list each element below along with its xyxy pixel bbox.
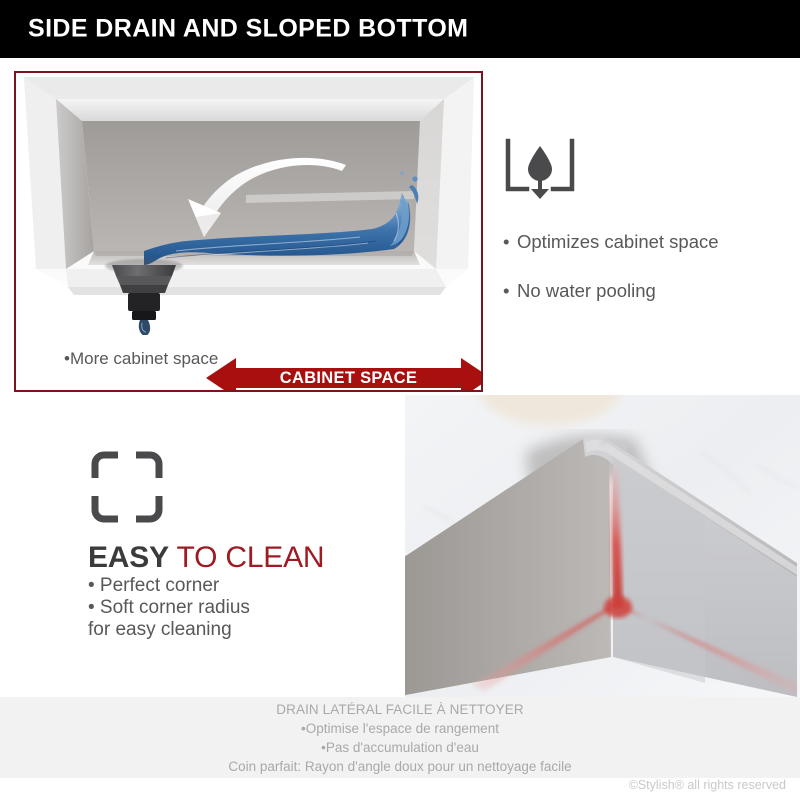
heading-to-clean: TO CLEAN — [169, 541, 324, 574]
feature-list: •Optimizes cabinet space •No water pooli… — [503, 231, 793, 302]
list-item: •Optimizes cabinet space — [503, 231, 793, 253]
bullet-icon: • — [503, 280, 517, 302]
cabinet-space-label: CABINET SPACE — [206, 356, 483, 392]
rounded-corner-frame-icon — [90, 450, 388, 529]
footer-line: DRAIN LATÉRAL FACILE À NETTOYER — [0, 700, 800, 719]
feature-column: •Optimizes cabinet space •No water pooli… — [503, 138, 793, 329]
feature-label: No water pooling — [517, 280, 656, 301]
footer-line: •Pas d'accumulation d'eau — [0, 738, 800, 757]
cabinet-space-banner: CABINET SPACE — [206, 356, 483, 392]
sink-cutaway-illustration — [16, 73, 481, 333]
clean-line: • Perfect corner — [88, 575, 388, 597]
clean-line: for easy cleaning — [88, 619, 388, 641]
easy-to-clean-heading: EASY TO CLEAN — [88, 541, 388, 575]
footer-line: •Optimise l'espace de rangement — [0, 719, 800, 738]
footer-text-block: DRAIN LATÉRAL FACILE À NETTOYER •Optimis… — [0, 700, 800, 777]
header-bar: SIDE DRAIN AND SLOPED BOTTOM — [0, 0, 800, 58]
heading-easy: EASY — [88, 541, 169, 574]
clean-line: • Soft corner radius — [88, 597, 388, 619]
sink-corner-photo — [405, 395, 800, 697]
illustration-panel: CABINET SPACE •More cabinet space — [14, 71, 483, 392]
page-title: SIDE DRAIN AND SLOPED BOTTOM — [28, 15, 468, 44]
easy-to-clean-block: EASY TO CLEAN • Perfect corner • Soft co… — [88, 450, 388, 641]
list-item: •No water pooling — [503, 280, 793, 302]
bullet-icon: • — [503, 231, 517, 253]
copyright-notice: ©Stylish® all rights reserved — [629, 778, 786, 792]
footer-line: Coin parfait: Rayon d'angle doux pour un… — [0, 757, 800, 776]
water-drain-icon — [503, 138, 793, 205]
more-cabinet-space-caption: •More cabinet space — [64, 349, 218, 369]
feature-label: Optimizes cabinet space — [517, 231, 719, 252]
